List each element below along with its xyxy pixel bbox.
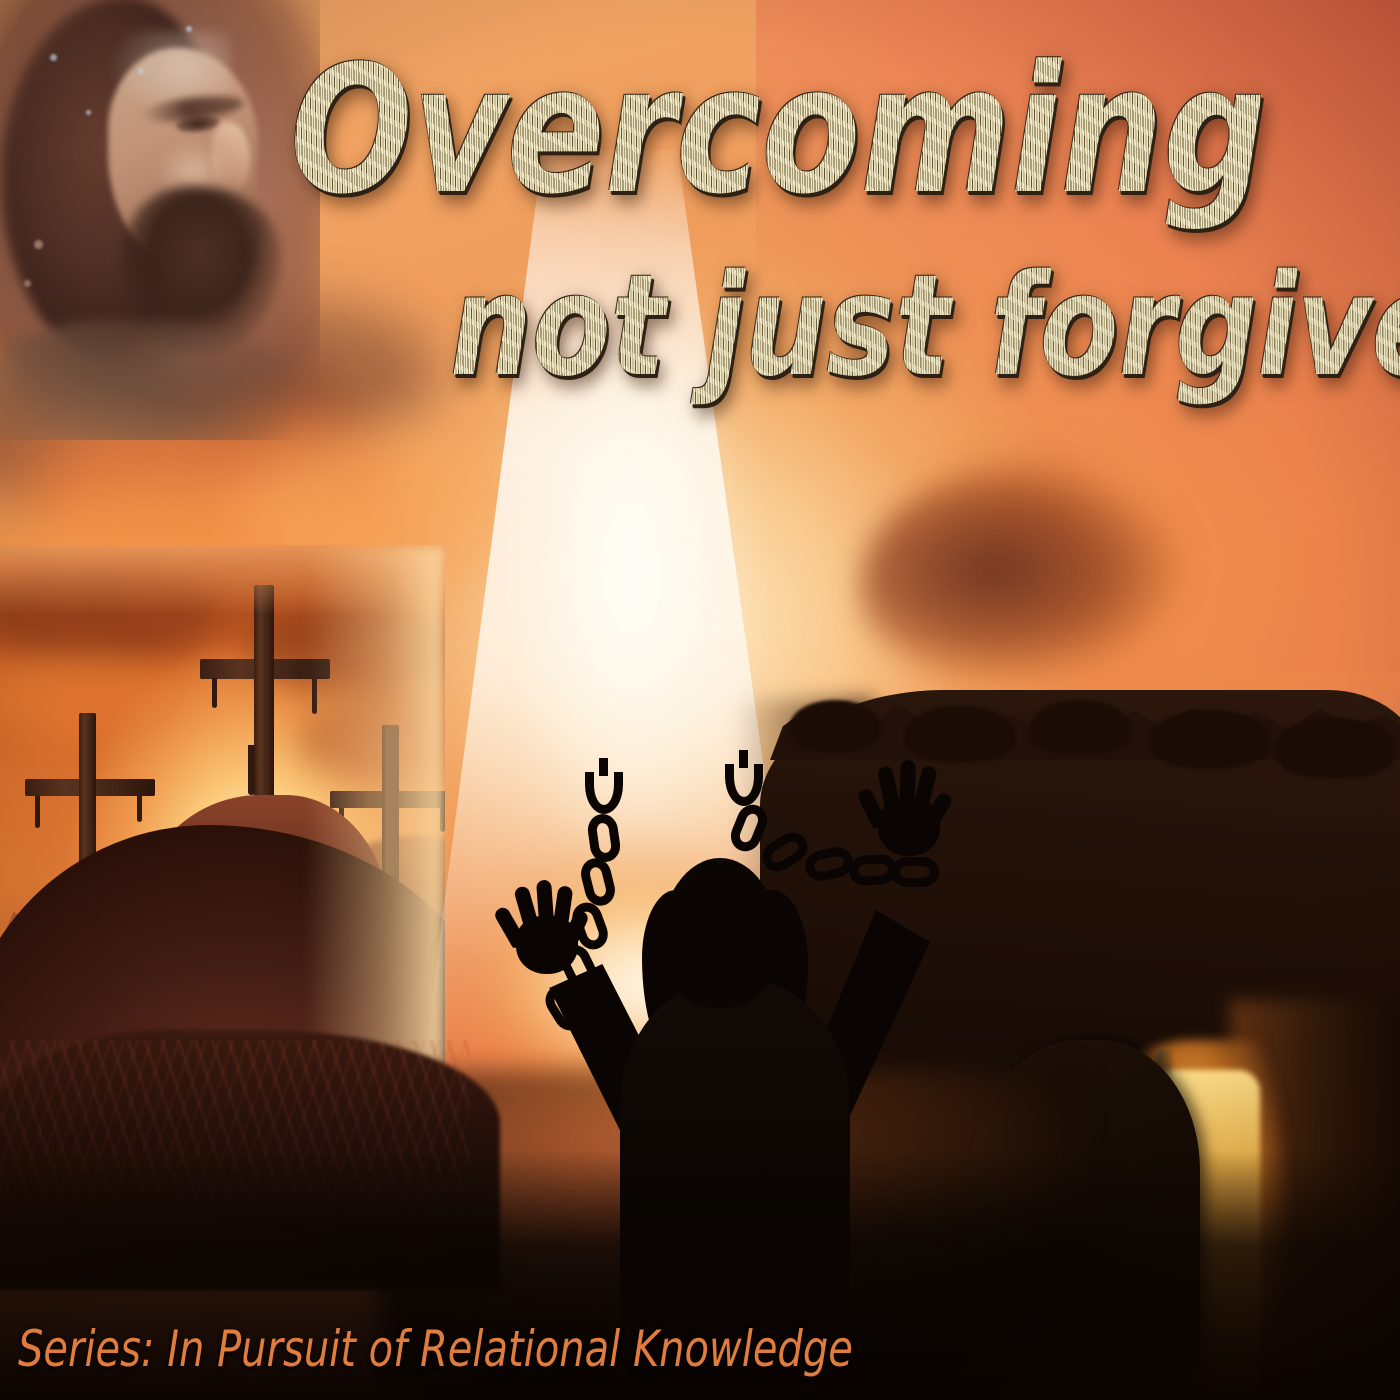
silhouette-right-hand xyxy=(858,758,962,858)
portrait-sparkle xyxy=(86,110,91,115)
chain-cuff xyxy=(585,772,623,814)
cross-drip xyxy=(212,678,217,708)
sermon-artwork-poster: Overcoming not just forgiven! Series: In… xyxy=(0,0,1400,1400)
portrait-sparkle xyxy=(24,280,31,287)
portrait-sparkle xyxy=(186,26,192,32)
jesus-portrait xyxy=(0,0,320,440)
portrait-sparkle xyxy=(50,54,57,61)
shrub xyxy=(1275,718,1395,778)
silhouette-head xyxy=(660,858,780,1008)
cross-drip xyxy=(137,796,142,822)
cross-drip xyxy=(248,745,255,795)
portrait-robe xyxy=(0,320,290,440)
cross-drip xyxy=(35,796,40,828)
portrait-sparkle xyxy=(34,240,43,249)
chain-link xyxy=(891,857,939,887)
shrub xyxy=(1030,700,1130,754)
chain-link xyxy=(802,844,855,883)
shrub xyxy=(1150,710,1270,768)
chain-cuff xyxy=(725,764,763,806)
series-label: Series: In Pursuit of Relational Knowled… xyxy=(18,1320,853,1378)
chain-link xyxy=(586,812,622,864)
portrait-sparkle xyxy=(138,68,144,74)
